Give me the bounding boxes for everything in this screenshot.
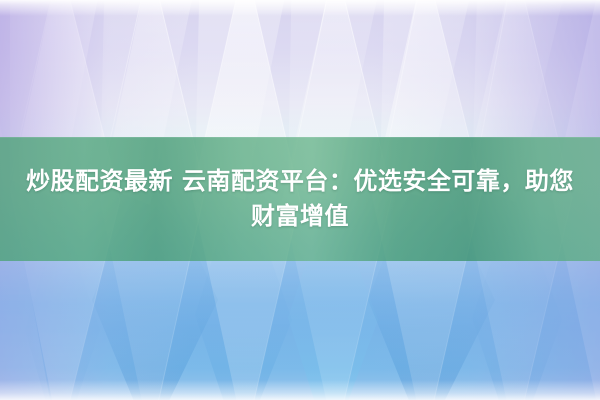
banner-headline: 炒股配资最新 云南配资平台：优选安全可靠，助您财富增值: [0, 164, 600, 234]
band-top-highlight: [0, 137, 600, 138]
promo-banner: 炒股配资最新 云南配资平台：优选安全可靠，助您财富增值: [0, 0, 600, 400]
